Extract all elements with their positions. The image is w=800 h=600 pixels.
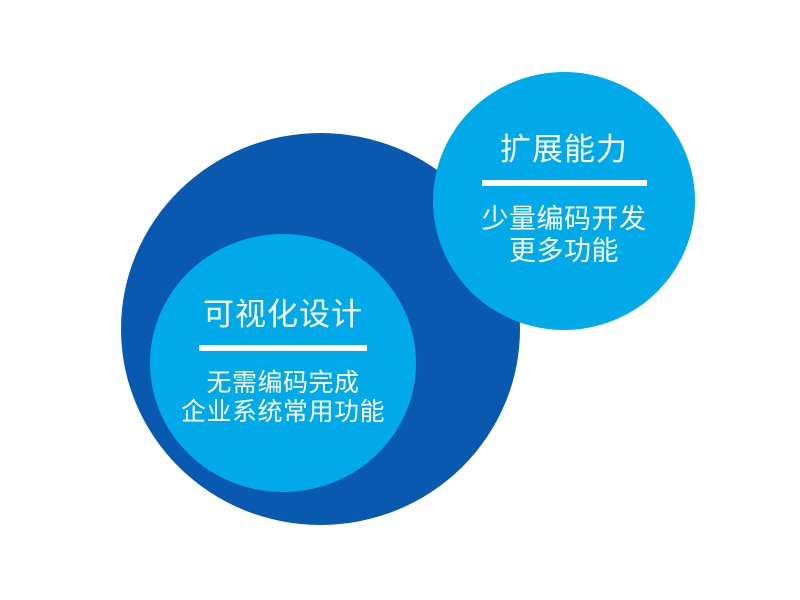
diagram-canvas: 可视化设计 无需编码完成 企业系统常用功能 扩展能力 少量编码开发 更多功能 [0, 0, 800, 600]
card-divider-extensibility [482, 180, 647, 186]
card-title-extensibility: 扩展能力 [433, 134, 695, 165]
circle-card-extensibility[interactable]: 扩展能力 少量编码开发 更多功能 [433, 72, 695, 330]
card-subtitle-extensibility: 少量编码开发 更多功能 [433, 204, 695, 268]
card-body-visual-design: 可视化设计 无需编码完成 企业系统常用功能 [150, 299, 416, 428]
card-subtitle-line-2: 更多功能 [433, 236, 695, 268]
circle-card-visual-design[interactable]: 可视化设计 无需编码完成 企业系统常用功能 [150, 234, 416, 492]
card-divider-visual-design [199, 345, 367, 351]
card-subtitle-line-2: 企业系统常用功能 [150, 398, 416, 428]
card-title-visual-design: 可视化设计 [150, 299, 416, 330]
card-subtitle-line-1: 少量编码开发 [433, 204, 695, 236]
card-body-extensibility: 扩展能力 少量编码开发 更多功能 [433, 134, 695, 268]
card-subtitle-visual-design: 无需编码完成 企业系统常用功能 [150, 369, 416, 428]
card-subtitle-line-1: 无需编码完成 [150, 369, 416, 399]
